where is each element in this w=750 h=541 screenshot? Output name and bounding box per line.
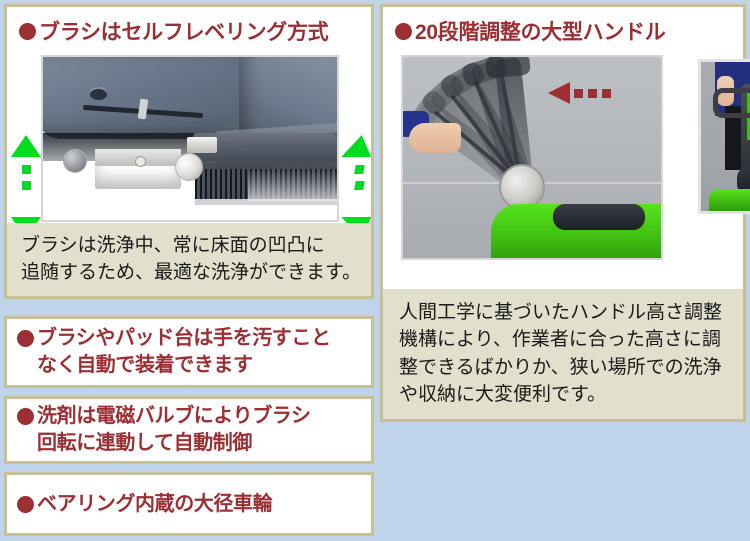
caption-line: ブラシは洗浄中、常に床面の凹凸に: [21, 232, 371, 260]
panel-brush-self-leveling: ブラシはセルフレベリング方式: [4, 4, 374, 299]
deck-hole-shape: [90, 89, 107, 100]
feature-box-auto-mount: ブラシやパッド台は手を汚すこと なく自動で装着できます: [4, 316, 374, 388]
brush-photo-scene: [43, 57, 337, 220]
feature-line-1-row: ベアリング内蔵の大径車輪: [17, 491, 272, 518]
feature-text: ブラシやパッド台は手を汚すこと なく自動で装着できます: [7, 325, 331, 379]
caption-line: 整できるばかりか、狭い場所での洗浄: [399, 354, 743, 382]
brush-bristles-blur-shape: [248, 169, 339, 201]
feature-text: 洗剤は電磁バルブによりブラシ 回転に連動して自動制御: [7, 403, 311, 457]
brush-clamp-shape: [187, 137, 217, 153]
bullet-icon: [395, 23, 412, 40]
feature-line-1: 洗剤は電磁バルブによりブラシ: [37, 403, 311, 430]
brush-photo: [41, 55, 339, 222]
operator-hand-shape: [409, 123, 461, 153]
panel-brush-title: ブラシはセルフレベリング方式: [19, 16, 328, 46]
caption-line: 追随するため、最適な洗浄ができます。: [21, 259, 371, 287]
caption-line: や収納に大変便利です。: [399, 381, 743, 409]
panel-handle-caption: 人間工学に基づいたハンドル高さ調整 機構により、作業者に合った高さに調 整できる…: [383, 289, 743, 419]
bullet-icon: [17, 408, 34, 425]
panel-brush-title-text: ブラシはセルフレベリング方式: [39, 16, 328, 46]
feature-text: ベアリング内蔵の大径車輪: [7, 491, 272, 518]
panel-handle-title: 20段階調整の大型ハンドル: [395, 16, 665, 46]
feature-box-large-wheels: ベアリング内蔵の大径車輪: [4, 472, 374, 536]
machine-tank-lid-shape: [553, 204, 645, 230]
panel-brush-caption: ブラシは洗浄中、常に床面の凹凸に 追随するため、最適な洗浄ができます。: [7, 223, 371, 296]
orange-module-knob-shape: [135, 156, 146, 167]
feature-line-2: 回転に連動して自動制御: [17, 430, 311, 457]
machine-base-shape: [709, 189, 750, 211]
product-feature-page: ブラシはセルフレベリング方式: [0, 0, 750, 541]
arrow-dash: [602, 89, 611, 98]
dashed-left-arrow-icon: [548, 82, 616, 104]
arrow-dash: [354, 165, 365, 174]
handle-inset-photo: [698, 59, 750, 214]
feature-line-1: ブラシやパッド台は手を汚すこと: [37, 325, 331, 352]
handle-photo: [401, 55, 663, 260]
panel-handle-title-text: 20段階調整の大型ハンドル: [415, 16, 665, 46]
arrow-head-icon: [548, 82, 570, 104]
arrow-dash: [22, 181, 31, 190]
bullet-icon: [19, 23, 36, 40]
caption-line: 人間工学に基づいたハンドル高さ調整: [399, 299, 743, 327]
feature-line-1: ベアリング内蔵の大径車輪: [37, 491, 272, 518]
feature-line-2: なく自動で装着できます: [17, 352, 331, 379]
arrow-dash: [574, 89, 583, 98]
panel-handle-adjustment: 20段階調整の大型ハンドル: [380, 4, 746, 422]
roller-wheel-secondary-shape: [63, 149, 87, 173]
arrow-up-head-icon: [341, 135, 376, 157]
handle-grip-shape: [485, 55, 531, 79]
feature-box-detergent-valve: 洗剤は電磁バルブによりブラシ 回転に連動して自動制御: [4, 396, 374, 464]
handlebar-shape: [713, 88, 750, 118]
roller-wheel-shape: [175, 153, 203, 181]
bullet-icon: [17, 496, 34, 513]
feature-line-1-row: 洗剤は電磁バルブによりブラシ: [17, 403, 311, 430]
feature-line-1-row: ブラシやパッド台は手を汚すこと: [17, 325, 331, 352]
arrow-up-head-icon: [11, 135, 41, 157]
bullet-icon: [17, 330, 34, 347]
arrow-dash: [588, 89, 597, 98]
caption-line: 機構により、作業者に合った高さに調: [399, 326, 743, 354]
arrow-dash: [354, 181, 365, 190]
arrow-dash: [22, 165, 31, 174]
